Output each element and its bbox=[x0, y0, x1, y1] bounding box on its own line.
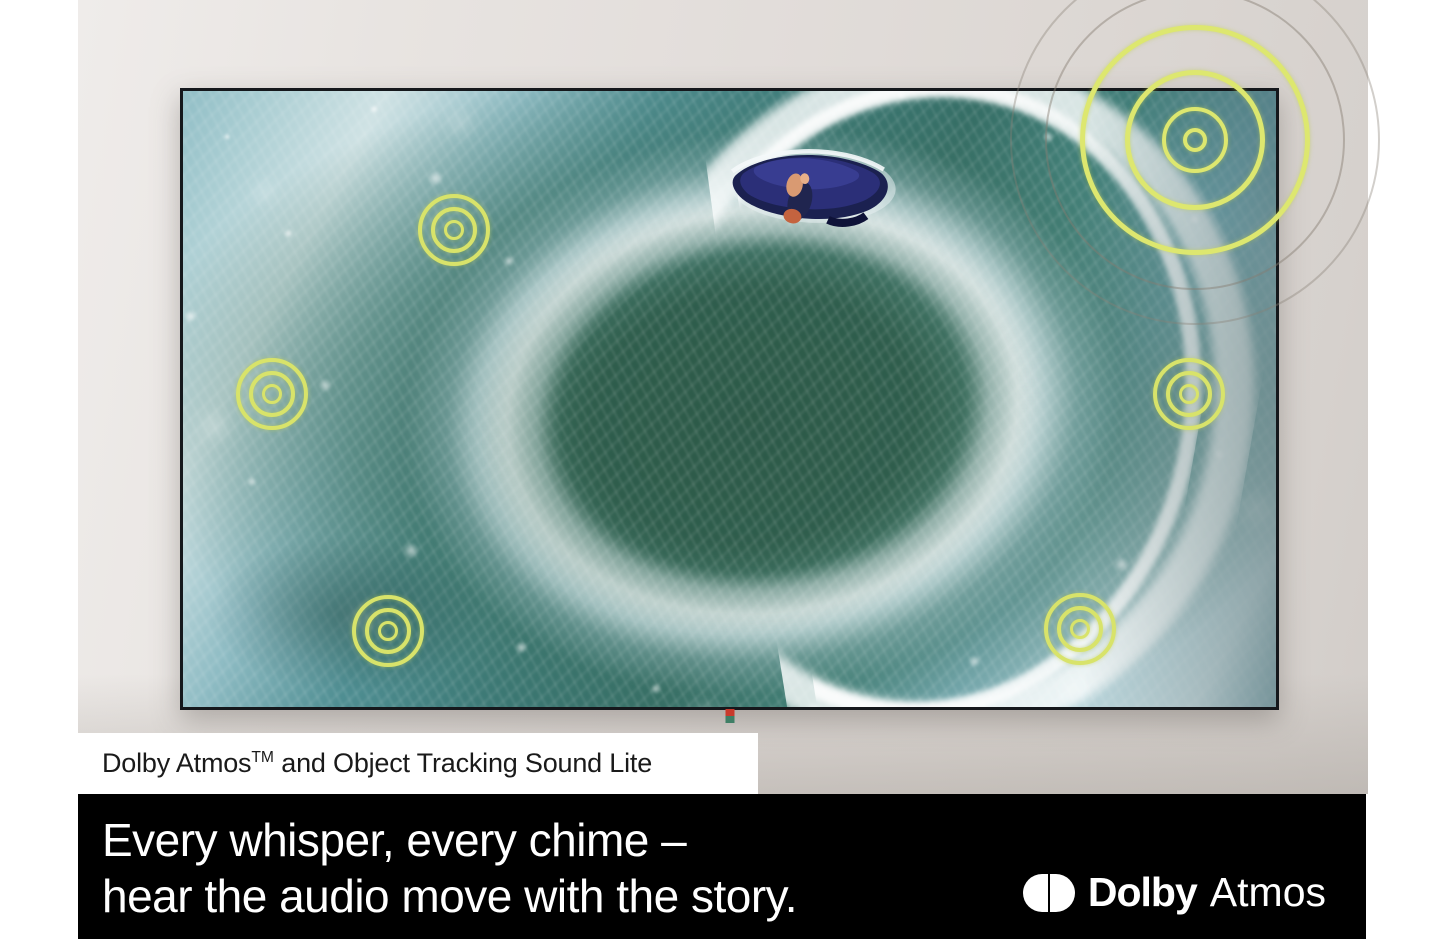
television bbox=[180, 88, 1279, 710]
double-d-left-half bbox=[1023, 874, 1048, 912]
caption-trademark: TM bbox=[251, 749, 274, 766]
dolby-brand-text: Dolby bbox=[1088, 872, 1197, 913]
double-d-icon bbox=[1023, 874, 1075, 912]
tv-power-led bbox=[725, 709, 734, 716]
caption-suffix: and Object Tracking Sound Lite bbox=[274, 748, 652, 778]
feature-caption-text: Dolby AtmosTM and Object Tracking Sound … bbox=[102, 748, 652, 779]
jet-ski bbox=[717, 122, 909, 257]
page-root: Dolby AtmosTM and Object Tracking Sound … bbox=[0, 0, 1445, 939]
caption-prefix: Dolby Atmos bbox=[102, 748, 251, 778]
promo-headline: Every whisper, every chime – hear the au… bbox=[102, 812, 797, 924]
feature-caption-strip: Dolby AtmosTM and Object Tracking Sound … bbox=[78, 733, 758, 794]
water-shadow-bottom-left bbox=[183, 510, 533, 707]
dolby-atmos-logo: Dolby Atmos bbox=[1023, 872, 1326, 913]
water-shadow-right bbox=[992, 91, 1276, 707]
promo-banner: Every whisper, every chime – hear the au… bbox=[78, 794, 1366, 939]
tv-screen bbox=[183, 91, 1276, 707]
atmos-product-text: Atmos bbox=[1210, 872, 1326, 913]
double-d-right-half bbox=[1050, 874, 1075, 912]
